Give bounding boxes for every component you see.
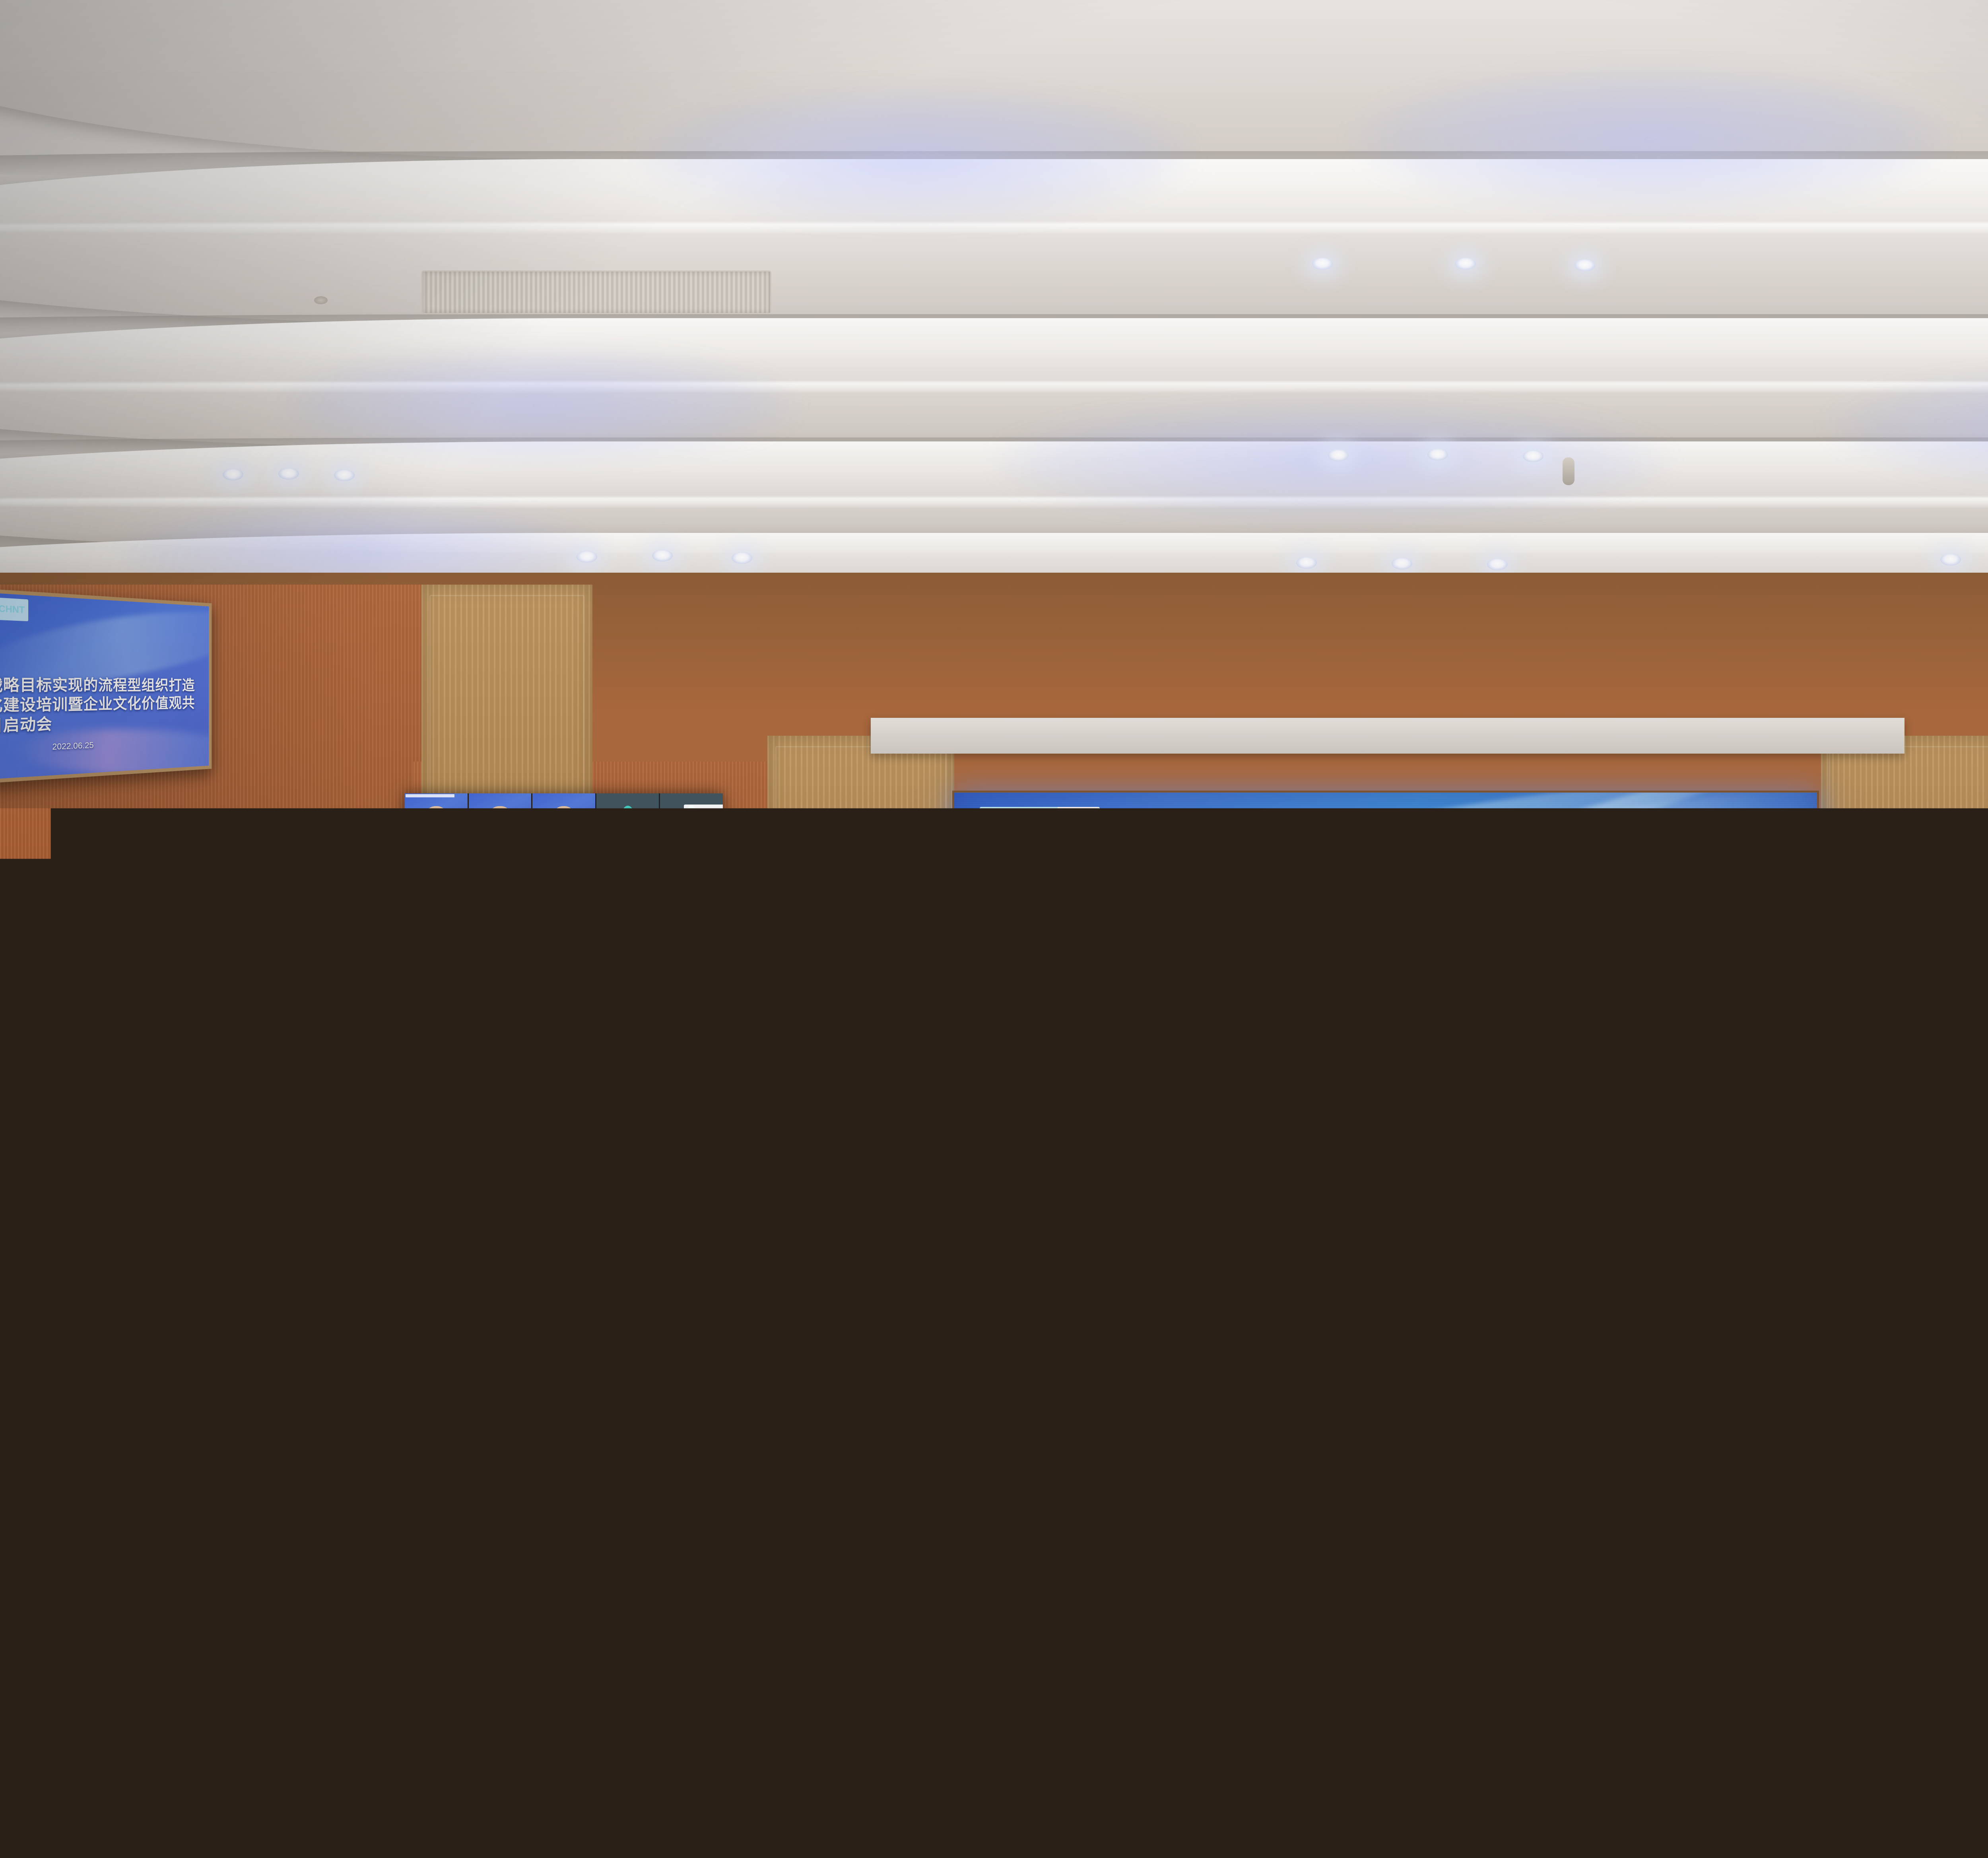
audience-seat[interactable] [1672,1261,1732,1302]
screen-title: 基于战略目标实现的流程型组织打造 和文化建设培训暨企业文化价值观共建项目启动会 [954,925,1817,994]
video-conference-wall-left[interactable]: 陈刘吴赵孙周郑黄林何徐马朱高罗谢唐邓曹 [405,793,723,1010]
participant-name-label [409,832,418,835]
audience-seat[interactable] [1887,1409,1977,1470]
water-bottle[interactable] [274,1103,278,1113]
front-desk-edge [0,1806,1988,1858]
attendee [1896,1224,1939,1275]
attendee [1475,1282,1529,1344]
uniform-logo-cn: 正泰 [1383,1417,1404,1428]
attendee-uniform [253,1307,330,1344]
attendee-uniform [1103,1193,1156,1219]
participant-avatar: 高 [686,937,697,949]
video-cell[interactable] [532,793,595,836]
attendee-uniform [29,1193,82,1219]
attendee [1479,1224,1523,1275]
attendee-uniform [742,1118,779,1137]
pen[interactable] [1284,1121,1297,1123]
participant-nameplate [470,876,482,878]
video-cell[interactable]: 孙 [596,837,659,880]
conference-hall-photo: 陈刘吴赵孙周郑黄林何徐马朱高罗谢唐邓曹 陈刘吴赵孙周郑黄林何徐马朱高罗谢唐邓曹 … [0,0,1988,1858]
attendee-uniform [735,1307,812,1344]
uniform-logo-word: CHNT [1385,1497,1431,1516]
ceiling-downlight [1328,449,1349,461]
participant-name-label [664,832,674,835]
uniform-logo: CHNT正泰 [1555,1669,1606,1708]
water-bottle[interactable] [1557,1349,1565,1373]
water-bottle[interactable] [333,1172,338,1186]
participant-avatar: 郑 [431,893,441,906]
pen[interactable] [1309,1491,1345,1493]
participant-name-label [536,919,546,922]
video-cell[interactable]: 高 [660,924,723,967]
water-bottle[interactable] [138,1134,143,1146]
video-cell[interactable] [469,793,532,836]
uniform-logo-word: CHNT [1555,1669,1606,1689]
participant-nameplate [661,876,674,878]
audience-seat[interactable] [559,1207,610,1242]
attendee [1050,1224,1093,1275]
audience-seat[interactable] [991,1327,1065,1377]
attendee [1867,1106,1893,1137]
participant-avatar: 周 [686,849,697,862]
participant-nameplate [534,876,546,878]
attendee-laptop[interactable] [238,1162,278,1188]
participant-torso [416,820,456,836]
attendee: CHNT正泰 [29,1356,93,1430]
attendee-uniform [1470,1241,1532,1275]
attendee-uniform [1743,1607,1901,1678]
uniform-logo: CHNT正泰 [1385,1498,1431,1532]
participant-nameplate [470,963,482,966]
pen[interactable] [1648,1249,1668,1251]
video-cell[interactable]: 唐 [532,968,595,1010]
podium-microphone-stand [945,981,951,1001]
attendee: CHNT正泰 [1367,1446,1449,1539]
mic-muted-icon [534,832,536,835]
attendee-uniform [317,1118,355,1137]
participant-nameplate [534,832,546,835]
attendee [835,1356,899,1430]
participant-nameplate [406,876,418,878]
attendee [323,1106,349,1137]
attendee [464,1560,573,1678]
ceiling-downlight [223,468,243,480]
podium-microphone-stand [930,980,936,1001]
mic-muted-icon [661,876,663,878]
mic-muted-icon [534,963,536,966]
water-bottle[interactable] [1564,1134,1568,1146]
ceiling-downlight [1523,450,1543,462]
pen[interactable] [179,1197,196,1199]
attendee [1683,1446,1765,1539]
water-bottle[interactable] [1825,1349,1833,1373]
ceiling-downlight [577,551,597,563]
participant-avatar: 刘 [431,849,441,862]
audience-seating: 薛灵燕卓建军仕鹏邵全军朱建波舒维张维李磊薛灵燕卓建军仕鹏邵全军朱建波舒维张维李磊… [0,1129,1988,1858]
participant-name-label [600,919,610,922]
video-cell[interactable]: 赵 [532,837,595,880]
mic-muted-icon [661,1007,663,1009]
main-led-screen[interactable]: CHNT 正泰集团股份 基于战略目标实现的流程型组织打造 和文化建设培训暨企业文… [952,791,1819,1117]
participant-avatar: 孙 [623,849,633,862]
meeting-banner [684,805,723,817]
video-cell[interactable]: 刘 [405,837,468,880]
attendee-laptop[interactable] [372,1126,406,1148]
mic-muted-icon [598,963,600,966]
water-bottle[interactable] [1206,1219,1212,1236]
video-cell[interactable]: 朱 [532,924,595,967]
water-bottle[interactable] [1230,1172,1235,1186]
attendee [265,1282,318,1344]
water-bottle[interactable] [1547,1103,1551,1113]
attendee-uniform [822,1149,867,1174]
video-cell[interactable]: 徐 [660,880,723,923]
attendee [34,1282,87,1344]
attendee-uniform [1861,1116,1899,1137]
participant-nameplate [406,832,418,835]
attendee-uniform [440,1600,597,1678]
mic-muted-icon [534,1007,536,1009]
attendee [1767,1560,1876,1678]
attendee-uniform [1576,1118,1614,1137]
attendee [1292,1176,1329,1219]
uniform-logo: CHNT正泰 [561,1401,598,1429]
water-bottle[interactable] [1722,1134,1727,1146]
attendee-laptop[interactable] [1531,1262,1587,1299]
mic-muted-icon [534,919,536,922]
water-bottle[interactable] [1689,1103,1693,1113]
attendee-laptop[interactable] [1757,1097,1785,1116]
audience-seat[interactable] [918,1207,969,1242]
video-cell[interactable]: 马 [469,924,532,967]
vacuum-flask[interactable] [110,1216,119,1236]
monitor-left-date: 2022.06.25 [52,740,93,752]
participant-torso [480,820,520,836]
water-bottle[interactable] [1123,1103,1127,1113]
attendee [300,1356,365,1430]
attendee [1777,1137,1808,1174]
mic-muted-icon [470,876,472,878]
overhead-monitor-left[interactable]: CHNT 基于战略目标实现的流程型组织打造 和文化建设培训暨企业文化价值观共建项… [0,589,212,783]
ceiling-downlight [1296,557,1317,569]
attendee [1648,1176,1685,1219]
attendee-uniform [1949,1307,1988,1344]
vacuum-flask[interactable] [1588,1273,1600,1297]
attendee [1098,1356,1163,1430]
water-bottle[interactable] [932,1438,943,1468]
participant-avatar: 何 [623,893,633,906]
attendee: CHNT正泰 [345,1446,427,1539]
water-bottle[interactable] [1089,1134,1093,1146]
attendee-uniform [385,1190,438,1219]
attendee-uniform [1606,1381,1699,1430]
pen[interactable] [1058,1392,1087,1394]
pen[interactable] [790,1392,819,1394]
attendee-laptop[interactable] [1639,1126,1672,1148]
water-bottle[interactable] [1406,1103,1410,1113]
participant-name-label [536,876,546,878]
water-bottle[interactable] [200,1276,208,1296]
water-bottle[interactable] [557,1103,561,1113]
uniform-logo-word: CHNT [42,1397,80,1412]
uniform-logo: CHNT正泰 [1375,1401,1412,1429]
mic-muted-icon [661,832,663,835]
mic-muted-icon [598,832,600,835]
mic-muted-icon [661,919,663,922]
audience-seat[interactable] [497,1163,540,1193]
attendee-uniform [1296,1118,1334,1137]
ceiling-speaker [1563,457,1574,485]
participant-nameplate [470,1007,482,1009]
participant-name-label [473,1007,482,1009]
audience-seat[interactable] [170,1128,207,1153]
handout-papers [1852,1390,1905,1401]
video-cell[interactable] [405,924,468,967]
water-bottle[interactable] [1418,1276,1425,1296]
ceiling-downlight [1574,259,1595,271]
podium-brand-label: CHNT [882,1017,988,1039]
pen[interactable] [794,1155,809,1157]
video-cell[interactable] [660,793,723,836]
water-bottle[interactable] [1594,1438,1606,1468]
audience-seat[interactable] [339,1163,382,1193]
chnt-wordmark: CHNT [988,811,1049,832]
attendee [221,1224,264,1275]
attendee [393,1176,430,1219]
participant-avatar: 吴 [495,849,505,862]
attendee [1232,1282,1285,1344]
mic-muted-icon [406,919,408,922]
attendee-uniform [1730,1307,1807,1344]
video-cell[interactable]: 郑 [405,880,468,923]
uniform-logo: CHNT正泰 [1064,1502,1109,1536]
water-bottle[interactable] [1412,1219,1419,1236]
water-bottle[interactable] [1247,1134,1251,1146]
video-cell[interactable] [405,793,468,836]
participant-nameplate [661,919,674,922]
water-bottle[interactable] [297,1134,301,1146]
attendee [1611,1137,1642,1174]
ceiling-downlight [1455,258,1476,270]
attendee [1960,1282,1988,1344]
water-bottle[interactable] [1175,1276,1182,1296]
video-cell[interactable]: 谢 [469,968,532,1010]
attendee-laptop[interactable] [1716,1208,1762,1238]
attendee-uniform [876,1116,914,1137]
audience-seat[interactable] [1727,1128,1764,1153]
attendee-uniform [1665,1483,1783,1539]
attendee-laptop[interactable] [1853,1162,1892,1188]
attendee-laptop[interactable] [1615,1097,1644,1116]
water-bottle[interactable] [172,1219,178,1236]
participant-avatar: 曹 [686,980,697,993]
participant-avatar: 谢 [495,980,505,993]
participant-name-label [600,963,610,966]
water-bottle[interactable] [153,1172,159,1186]
pen[interactable] [897,1197,914,1199]
participant-name-label [473,876,482,878]
attendee [504,1282,557,1344]
attendee-uniform [1221,1303,1297,1344]
attendee-uniform [1464,1303,1541,1344]
participant-avatar: 徐 [686,893,697,906]
attendee-uniform [285,1386,379,1430]
pen[interactable] [1001,1121,1013,1123]
video-cell[interactable]: 罗 [405,968,468,1010]
water-bottle[interactable] [1662,1276,1669,1296]
pen[interactable] [151,1121,164,1123]
participant-name-label [600,832,610,835]
audience-seat[interactable] [1019,1128,1056,1153]
vacuum-flask[interactable] [1358,1132,1365,1147]
video-cell[interactable]: 黄 [469,880,532,923]
participant-avatar: 赵 [559,849,569,862]
pen[interactable] [10,1121,23,1123]
attendee-laptop[interactable] [1898,1097,1927,1116]
wood-column-right-inner [1821,736,1988,1137]
participant-avatar: 邓 [623,980,633,993]
presenter [886,927,969,1010]
water-bottle[interactable] [1406,1134,1410,1146]
participant-nameplate [661,1007,674,1009]
participant-name-label [664,963,674,966]
pen[interactable] [1076,1197,1093,1199]
attendee [1742,1282,1795,1344]
water-bottle[interactable] [1972,1103,1976,1113]
audience-seat[interactable] [1922,1163,1965,1193]
participant-name-label [473,832,482,835]
participant-torso [544,820,584,836]
screen-date: 2022.06.25 [954,1038,1817,1053]
attendee-laptop[interactable] [1474,1097,1502,1116]
video-cell[interactable]: 陈 [596,793,659,836]
attendee [597,1106,623,1137]
attendee [455,1106,481,1137]
attendee-uniform [211,1244,274,1275]
uniform-logo-cn: 正泰 [373,1521,399,1536]
smoke-detector [314,296,328,304]
vacuum-flask[interactable] [1363,1101,1369,1114]
uniform-logo-cn: 正泰 [569,1417,590,1428]
attendee-uniform [31,1118,69,1137]
video-cell[interactable]: 周 [660,837,723,880]
participant-nameplate [406,963,418,966]
circular-emblem-icon [1058,807,1100,845]
mic-muted-icon [598,919,600,922]
attendee [1302,1106,1328,1137]
mic-muted-icon [534,876,536,878]
participant-avatar: 马 [495,937,505,949]
participant-nameplate [598,919,610,922]
podium-water-bottle [959,988,965,1001]
water-bottle[interactable] [792,1219,798,1236]
attendee-uniform [1084,1386,1177,1430]
attendee-laptop[interactable] [314,1262,370,1299]
audience-seat[interactable] [656,1163,699,1193]
uniform-logo: CHNT正泰 [363,1502,408,1536]
attendee-uniform [1284,1190,1337,1219]
vacuum-flask[interactable] [1646,1101,1652,1114]
mic-muted-icon [661,963,663,966]
pen[interactable] [1255,1197,1273,1199]
ceiling-downlight [652,550,673,562]
attendee-uniform [1041,1244,1103,1275]
pen[interactable] [293,1121,306,1123]
video-cell[interactable]: 曹 [660,968,723,1010]
pen[interactable] [253,1392,282,1394]
pen[interactable] [1142,1121,1155,1123]
pen[interactable] [1441,1249,1462,1251]
participant-nameplate [661,832,674,835]
attendee-uniform [1811,1193,1863,1219]
vacuum-flask[interactable] [279,1169,287,1187]
water-bottle[interactable] [415,1103,419,1113]
attendee-laptop[interactable] [268,1208,315,1238]
ceiling-downlight [1487,558,1508,570]
mic-muted-icon [470,963,472,966]
mic-muted-icon [406,832,408,835]
attendee [1819,1176,1855,1219]
water-bottle[interactable] [840,1103,844,1113]
vacuum-flask[interactable] [939,1101,944,1114]
uniform-logo-cn: 正泰 [1395,1517,1421,1532]
attendee [1175,1106,1202,1137]
uniform-logo-cn: 正泰 [1565,1691,1596,1708]
water-bottle[interactable] [1264,1103,1268,1113]
video-cell[interactable]: 吴 [469,837,532,880]
water-bottle[interactable] [698,1103,702,1113]
attendee [37,1176,74,1219]
video-cell[interactable] [596,924,659,967]
water-bottle[interactable] [1619,1219,1625,1236]
ceiling-downlight [1427,449,1448,461]
participant-nameplate [406,919,418,922]
video-cell[interactable]: 何 [596,880,659,923]
pen[interactable] [1862,1392,1892,1394]
mic-muted-icon [470,919,472,922]
video-cell[interactable]: 邓 [596,968,659,1010]
monitor-left-title: 基于战略目标实现的流程型组织打造 和文化建设培训暨企业文化价值观共建项目启动会 [0,675,207,738]
water-bottle[interactable] [1831,1103,1835,1113]
video-cell[interactable]: 林 [532,880,595,923]
participant-name-label [664,1007,674,1009]
water-bottle[interactable] [1409,1172,1415,1186]
mic-muted-icon [598,876,600,878]
attendee [747,1176,783,1219]
chnt-subtitle: 正泰集团股份 [994,834,1044,844]
attendee-uniform [820,1386,914,1430]
mic-muted-icon [470,1007,472,1009]
participant-nameplate [598,1007,610,1009]
participant-name-label [473,963,482,966]
attendee [433,1224,477,1275]
attendee-uniform [1887,1244,1949,1275]
pen[interactable] [1850,1121,1863,1123]
participant-torso [608,951,648,966]
eyeglasses-icon [909,950,938,956]
ceiling-downlight [1312,258,1333,270]
ceiling-downlight [278,468,299,480]
water-bottle[interactable] [215,1349,224,1373]
podium-microphone-stand [914,982,920,1001]
participant-name-label [536,832,546,835]
pen[interactable] [235,1312,259,1314]
uniform-logo-cn: 正泰 [50,1414,72,1426]
attendee [882,1106,908,1137]
stage-header-beam [871,718,1905,754]
audience-seat[interactable] [181,1163,223,1193]
attendee-uniform [1436,1152,1480,1174]
